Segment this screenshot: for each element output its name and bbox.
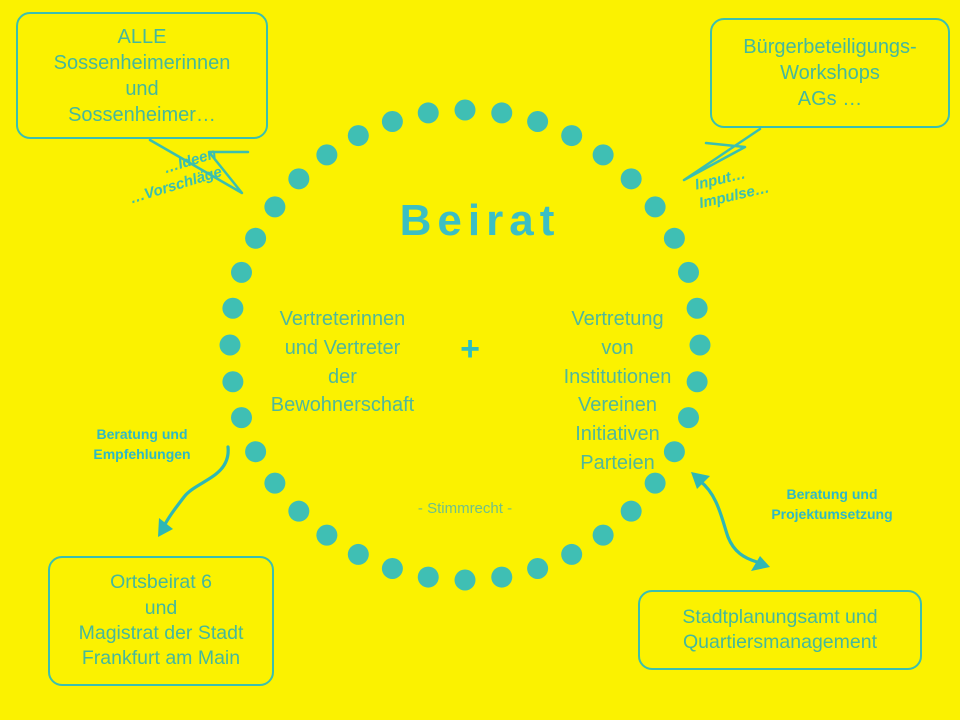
ring-dot: [491, 567, 512, 588]
box-ortsbeirat-line-2: und: [145, 596, 178, 621]
ring-dot: [348, 544, 369, 565]
bubble-citizens-line-2: Sossenheimerinnen: [54, 50, 231, 76]
ring-dot: [220, 335, 241, 356]
ring-dot: [222, 298, 243, 319]
caption-beratung-empfehlungen: Beratung und Empfehlungen: [72, 425, 212, 464]
column-institutions-line-2: von: [525, 334, 710, 363]
arrowhead-down-projektumsetzung: [751, 556, 770, 571]
ring-dot: [491, 102, 512, 123]
diagram-title: Beirat: [0, 196, 960, 246]
column-institutions-line-4: Vereinen: [525, 391, 710, 420]
ring-dot: [621, 168, 642, 189]
box-ortsbeirat[interactable]: Ortsbeirat 6 und Magistrat der Stadt Fra…: [48, 556, 274, 686]
ring-dot: [288, 168, 309, 189]
ring-dot: [561, 544, 582, 565]
ring-dot: [455, 570, 476, 591]
ring-dot: [348, 125, 369, 146]
ring-dot: [316, 525, 337, 546]
column-institutions-line-3: Institutionen: [525, 363, 710, 392]
box-stadtplanung-line-2: Quartiersmanagement: [683, 630, 877, 655]
column-residents-line-3: der: [250, 363, 435, 392]
column-residents-line-1: Vertreterinnen: [250, 305, 435, 334]
box-stadtplanung-line-1: Stadtplanungsamt und: [682, 605, 877, 630]
caption-beratung-empfehlungen-line-1: Beratung und: [72, 425, 212, 445]
ring-dot: [593, 144, 614, 165]
ring-dot: [527, 558, 548, 579]
column-residents-line-2: und Vertreter: [250, 334, 435, 363]
box-ortsbeirat-line-3: Magistrat der Stadt: [79, 621, 244, 646]
plus-icon: +: [440, 330, 500, 369]
ring-dot: [231, 407, 252, 428]
column-residents: Vertreterinnen und Vertreter der Bewohne…: [250, 305, 435, 420]
ring-dot: [621, 501, 642, 522]
ring-dot: [561, 125, 582, 146]
box-stadtplanung[interactable]: Stadtplanungsamt und Quartiersmanagement: [638, 590, 922, 670]
ring-dot: [593, 525, 614, 546]
bubble-citizens-line-3: und: [125, 76, 158, 102]
bubble-workshops-line-2: Workshops: [780, 60, 880, 86]
ring-dot: [382, 558, 403, 579]
ring-dot: [418, 102, 439, 123]
caption-beratung-projektumsetzung-line-1: Beratung und: [742, 485, 922, 505]
ring-dot: [382, 111, 403, 132]
speech-bubble-citizens[interactable]: ALLE Sossenheimerinnen und Sossenheimer…: [16, 12, 268, 139]
caption-beratung-projektumsetzung-line-2: Projektumsetzung: [742, 505, 922, 525]
column-institutions-line-5: Initiativen: [525, 420, 710, 449]
ring-dot: [418, 567, 439, 588]
column-institutions-line-6: Parteien: [525, 449, 710, 478]
ring-dot: [231, 262, 252, 283]
column-residents-line-4: Bewohnerschaft: [250, 391, 435, 420]
ring-dot: [527, 111, 548, 132]
voting-rights-note: - Stimmrecht -: [340, 500, 590, 517]
caption-beratung-projektumsetzung: Beratung und Projektumsetzung: [742, 485, 922, 524]
bubble-citizens-line-4: Sossenheimer…: [68, 102, 216, 128]
caption-beratung-empfehlungen-line-2: Empfehlungen: [72, 445, 212, 465]
ring-dot: [222, 371, 243, 392]
bubble-workshops-line-3: AGs …: [798, 86, 862, 112]
bubble-citizens-line-1: ALLE: [118, 24, 167, 50]
box-ortsbeirat-line-4: Frankfurt am Main: [82, 646, 240, 671]
ring-dot: [455, 100, 476, 121]
arrowhead-beratung-empfehlungen: [158, 518, 173, 537]
box-ortsbeirat-line-1: Ortsbeirat 6: [110, 570, 212, 595]
diagram-canvas: ALLE Sossenheimerinnen und Sossenheimer……: [0, 0, 960, 720]
column-institutions-line-1: Vertretung: [525, 305, 710, 334]
ring-dot: [288, 501, 309, 522]
ring-dot: [316, 144, 337, 165]
column-institutions: Vertretung von Institutionen Vereinen In…: [525, 305, 710, 478]
bubble-workshops-line-1: Bürgerbeteiligungs-: [743, 34, 916, 60]
speech-bubble-workshops[interactable]: Bürgerbeteiligungs- Workshops AGs …: [710, 18, 950, 128]
ring-dot: [678, 262, 699, 283]
